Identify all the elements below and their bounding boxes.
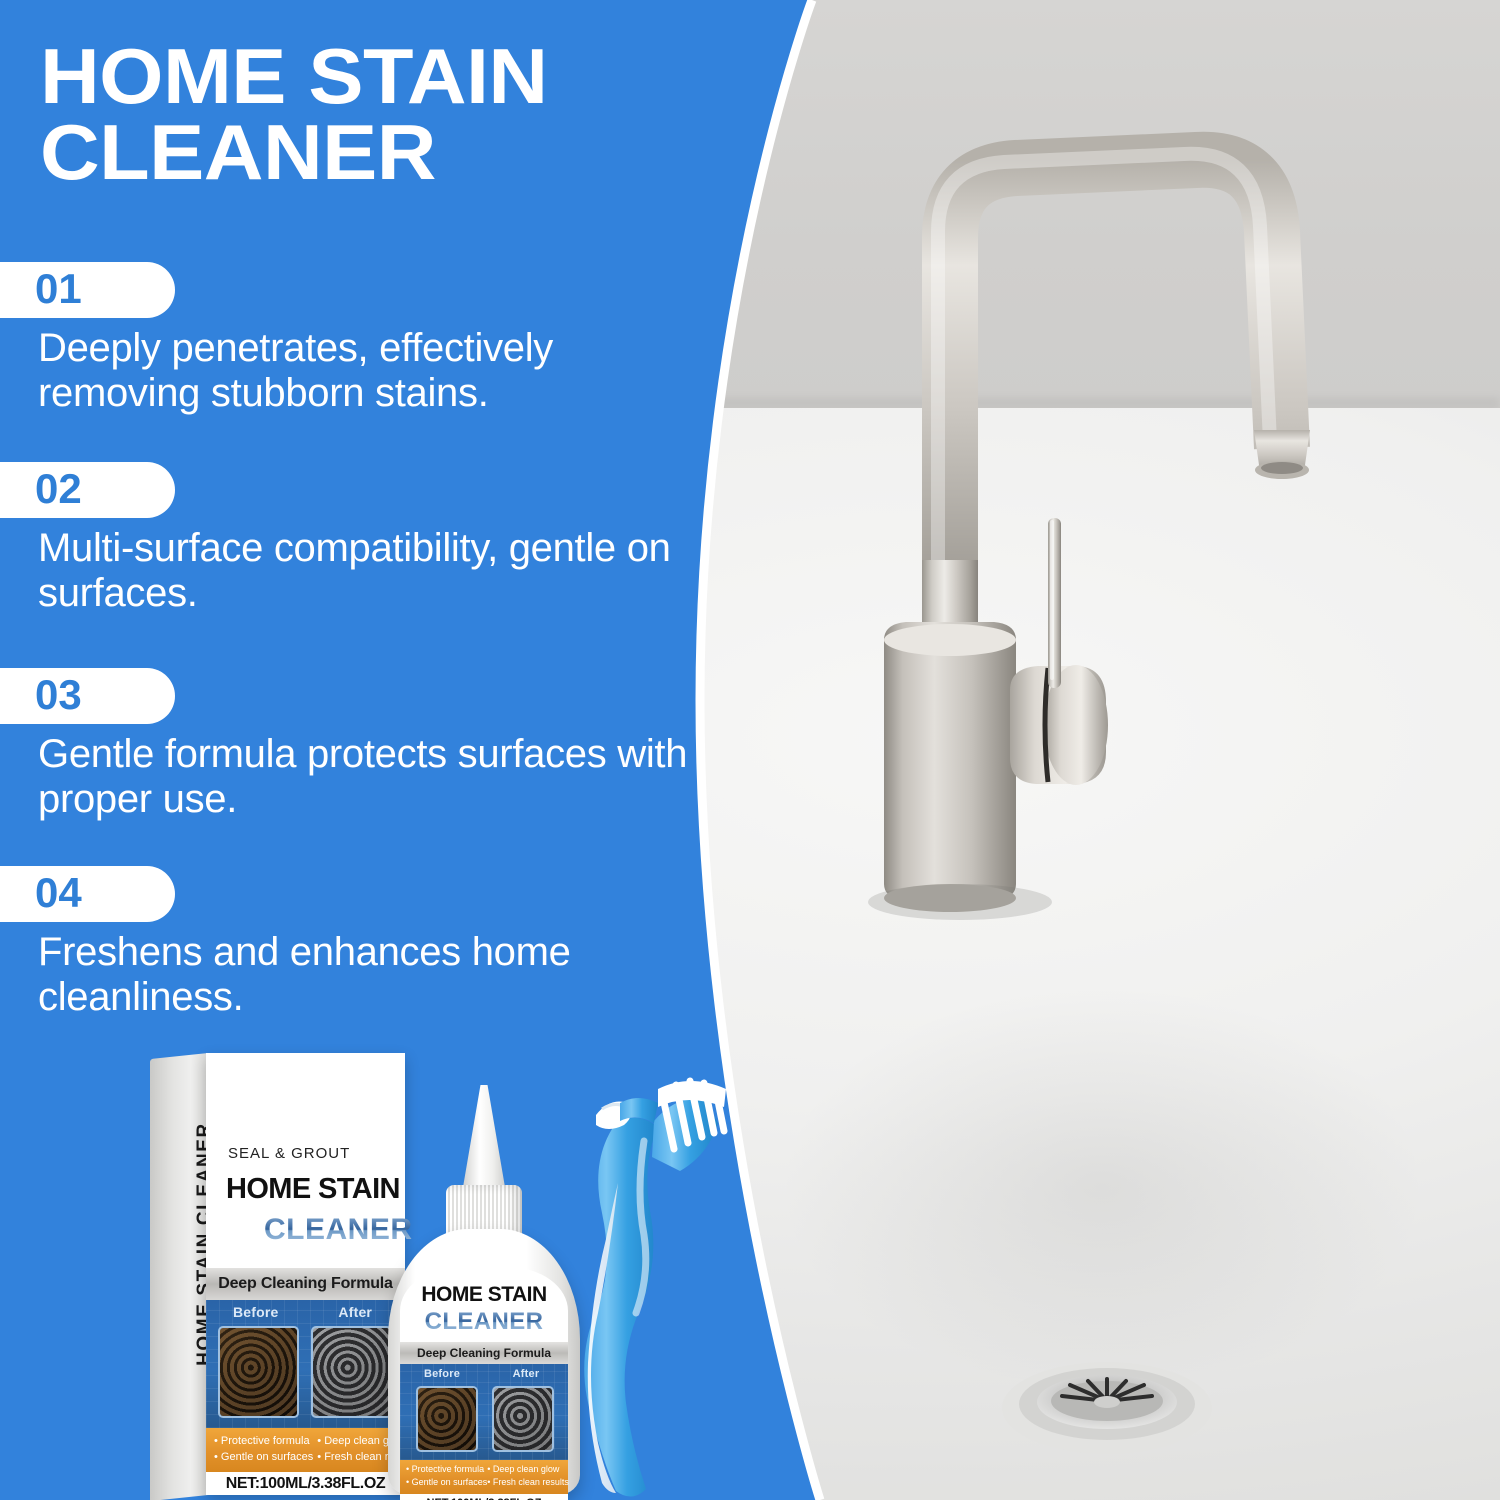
- carton-comparison-area: Before After: [206, 1300, 405, 1428]
- carton-net-volume: NET:100ML/3.38FL.OZ: [206, 1472, 405, 1495]
- carton-benefits-left: Protective formula Gentle on surfaces: [214, 1433, 313, 1472]
- carton-benefits-band: Protective formula Gentle on surfaces De…: [206, 1428, 405, 1472]
- bottle-comparison-area: Before After: [400, 1364, 568, 1460]
- bottle-title-line-2: CLEANER: [400, 1308, 568, 1336]
- bottle-nozzle: [462, 1085, 506, 1193]
- bottle-after-thumb: [492, 1386, 554, 1452]
- carton-eyebrow: SEAL & GROUT: [228, 1145, 350, 1162]
- bottle-after-label: After: [484, 1368, 568, 1380]
- bottle-benefit-2: Gentle on surfaces: [406, 1476, 487, 1489]
- feature-number-badge-02: 02: [0, 462, 175, 518]
- bottle-benefits-right: Deep clean glow Fresh clean results: [487, 1463, 569, 1494]
- carton-benefit-2: Gentle on surfaces: [214, 1449, 313, 1465]
- bottle-benefits-band: Protective formula Gentle on surfaces De…: [400, 1460, 568, 1494]
- carton-ba-thumbs: [218, 1326, 393, 1418]
- headline-line-2: CLEANER: [40, 114, 782, 190]
- headline-line-1: HOME STAIN: [40, 32, 548, 120]
- carton-after-thumb: [311, 1326, 392, 1418]
- carton-ba-labels: Before After: [206, 1304, 405, 1320]
- bottle-net-volume: NET:100ML/3.38FL.OZ: [400, 1494, 568, 1500]
- product-shot: HOME STAIN CLEANER SEAL & GROUT HOME STA…: [140, 1045, 700, 1500]
- carton-before-label: Before: [206, 1304, 306, 1320]
- carton-before-thumb: [218, 1326, 299, 1418]
- bottle-ba-labels: Before After: [400, 1368, 568, 1380]
- bottle-formula-band: Deep Cleaning Formula: [400, 1342, 568, 1364]
- bottle-before-label: Before: [400, 1368, 484, 1380]
- feature-number-badge-01: 01: [0, 262, 175, 318]
- bottle-title-line-1: HOME STAIN: [400, 1283, 568, 1307]
- cleaning-brush-icon: [558, 1063, 728, 1500]
- bottle-label-header: HOME STAIN CLEANER: [400, 1267, 568, 1342]
- carton-benefit-1: Protective formula: [214, 1433, 313, 1449]
- product-bottle: HOME STAIN CLEANER Deep Cleaning Formula…: [388, 1077, 580, 1495]
- bottle-benefit-4: Fresh clean results: [487, 1476, 569, 1489]
- feature-text-04: Freshens and enhances home cleanliness.: [0, 930, 700, 1020]
- sink-drain-icon: [1000, 1352, 1215, 1457]
- feature-text-02: Multi-surface compatibility, gentle on s…: [0, 526, 700, 616]
- bottle-before-thumb: [416, 1386, 478, 1452]
- bottle-benefit-1: Protective formula: [406, 1463, 487, 1476]
- carton-title-line-1: HOME STAIN: [226, 1173, 400, 1206]
- carton-front-panel: SEAL & GROUT HOME STAIN CLEANER Deep Cle…: [206, 1053, 405, 1495]
- feature-text-01: Deeply penetrates, effectively removing …: [0, 326, 700, 416]
- content-column: HOME STAIN CLEANER 01 Deeply penetrates,…: [0, 0, 760, 1500]
- bottle-ba-thumbs: [416, 1386, 554, 1452]
- product-infographic: HOME STAIN CLEANER 01 Deeply penetrates,…: [0, 0, 1500, 1500]
- feature-item-03: 03 Gentle formula protects surfaces with…: [0, 668, 740, 822]
- bottle-benefit-3: Deep clean glow: [487, 1463, 569, 1476]
- feature-item-02: 02 Multi-surface compatibility, gentle o…: [0, 462, 740, 616]
- carton-formula-band: Deep Cleaning Formula: [206, 1268, 405, 1300]
- feature-item-04: 04 Freshens and enhances home cleanlines…: [0, 866, 740, 1020]
- feature-text-03: Gentle formula protects surfaces with pr…: [0, 732, 700, 822]
- feature-item-01: 01 Deeply penetrates, effectively removi…: [0, 262, 740, 416]
- bottle-benefits-left: Protective formula Gentle on surfaces: [406, 1463, 487, 1494]
- page-title: HOME STAIN CLEANER: [40, 38, 782, 191]
- bottle-label: HOME STAIN CLEANER Deep Cleaning Formula…: [400, 1267, 568, 1500]
- product-carton: HOME STAIN CLEANER SEAL & GROUT HOME STA…: [150, 1053, 405, 1495]
- feature-number-badge-03: 03: [0, 668, 175, 724]
- feature-number-badge-04: 04: [0, 866, 175, 922]
